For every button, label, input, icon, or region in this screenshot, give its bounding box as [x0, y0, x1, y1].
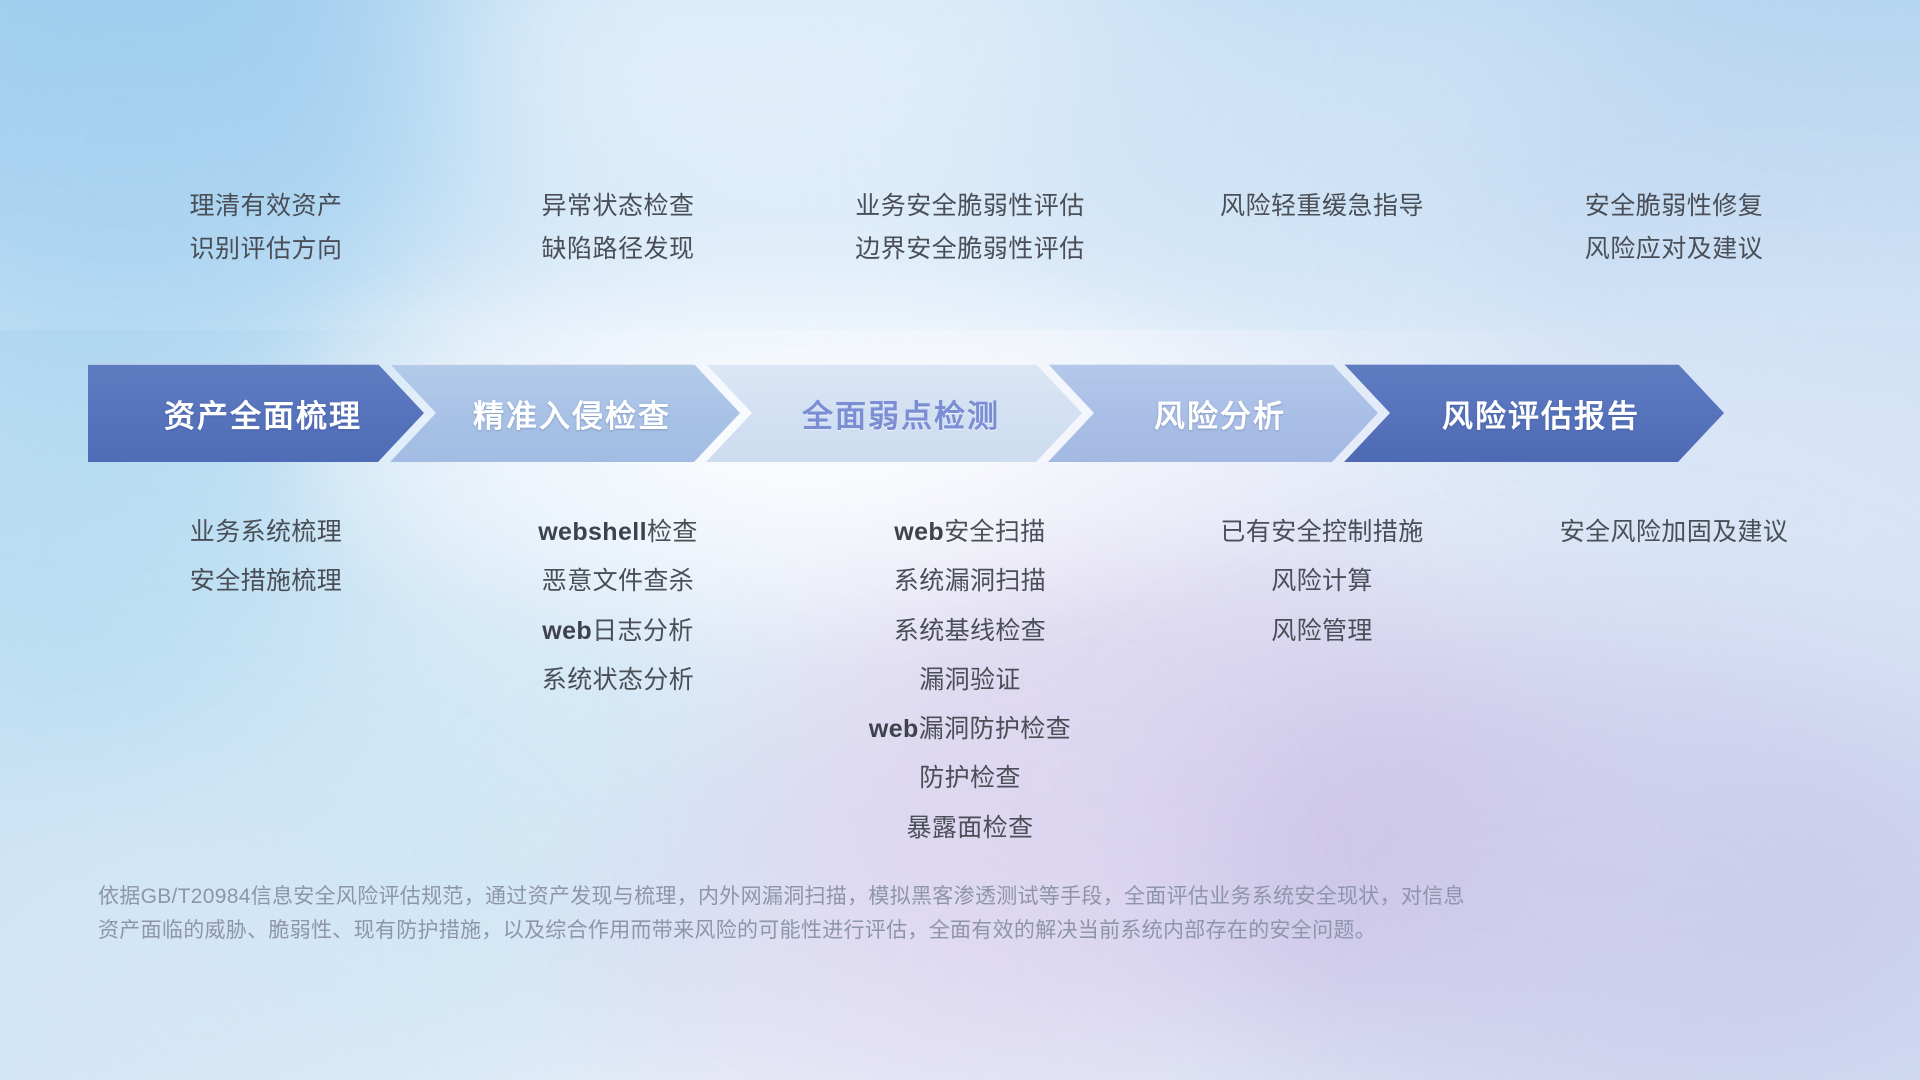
activity-item-keyword: web [542, 617, 592, 645]
bottom-activities-row: 业务系统梳理安全措施梳理 webshell检查恶意文件查杀web日志分析系统状态… [90, 508, 1850, 853]
top-outcome-line: 风险应对及建议 [1585, 228, 1764, 271]
process-stage-label: 风险评估报告 [1428, 391, 1640, 436]
process-stage-risk-analysis[interactable]: 风险分析 [1048, 364, 1378, 462]
top-outcome-line: 异常状态检查 [541, 185, 694, 228]
top-outcomes-assessment-report: 安全脆弱性修复 风险应对及建议 [1498, 185, 1850, 295]
activity-item: 业务系统梳理 [190, 508, 342, 557]
top-outcomes-intrusion-check: 异常状态检查 缺陷路径发现 [442, 185, 794, 295]
activity-item: 系统漏洞扫描 [894, 557, 1046, 606]
activity-item-keyword: webshell [538, 518, 647, 546]
activity-item: web安全扫描 [894, 508, 1045, 557]
bottom-activities-weakness-detection: web安全扫描系统漏洞扫描系统基线检查漏洞验证web漏洞防护检查防护检查暴露面检… [794, 508, 1146, 853]
bottom-activities-assessment-report: 安全风险加固及建议 [1498, 508, 1850, 557]
footer-line: 依据GB/T20984信息安全风险评估规范，通过资产发现与梳理，内外网漏洞扫描，… [98, 880, 1618, 914]
activity-item: webshell检查 [538, 508, 698, 557]
activity-item: 系统基线检查 [894, 607, 1046, 656]
top-outcome-line: 业务安全脆弱性评估 [855, 185, 1085, 228]
activity-item: 安全措施梳理 [190, 557, 342, 606]
process-arrow-band: 资产全面梳理 精准入侵检查 全面弱点检测 风险分析 风险评估报告 [88, 364, 1854, 462]
top-outcomes-weakness-detection: 业务安全脆弱性评估 边界安全脆弱性评估 [794, 185, 1146, 295]
activity-item: 风险计算 [1271, 557, 1373, 606]
top-outcomes-row: 理清有效资产 识别评估方向 异常状态检查 缺陷路径发现 业务安全脆弱性评估 边界… [90, 185, 1850, 295]
process-stage-assessment-report[interactable]: 风险评估报告 [1344, 364, 1724, 462]
top-outcome-line: 风险轻重缓急指导 [1220, 185, 1424, 228]
process-stage-intrusion-check[interactable]: 精准入侵检查 [390, 364, 740, 462]
process-stage-label: 资产全面梳理 [150, 391, 362, 436]
top-outcome-line: 理清有效资产 [189, 185, 342, 228]
process-stage-weakness-detection[interactable]: 全面弱点检测 [706, 364, 1082, 462]
process-stage-label: 全面弱点检测 [788, 391, 1000, 436]
top-outcomes-asset-inventory: 理清有效资产 识别评估方向 [90, 185, 442, 295]
top-outcomes-risk-analysis: 风险轻重缓急指导 [1146, 185, 1498, 295]
bottom-activities-risk-analysis: 已有安全控制措施风险计算风险管理 [1146, 508, 1498, 656]
bottom-activities-intrusion-check: webshell检查恶意文件查杀web日志分析系统状态分析 [442, 508, 794, 705]
top-outcome-line: 缺陷路径发现 [541, 228, 694, 271]
activity-item-keyword: web [869, 715, 919, 743]
footer-line: 资产面临的威胁、脆弱性、现有防护措施，以及综合作用而带来风险的可能性进行评估，全… [98, 914, 1618, 948]
activity-item: 已有安全控制措施 [1220, 508, 1423, 557]
process-stage-asset-inventory[interactable]: 资产全面梳理 [88, 364, 424, 462]
top-outcome-line: 识别评估方向 [189, 228, 342, 271]
activity-item: 防护检查 [919, 754, 1021, 803]
activity-item: 暴露面检查 [906, 804, 1033, 853]
footer-description: 依据GB/T20984信息安全风险评估规范，通过资产发现与梳理，内外网漏洞扫描，… [98, 880, 1618, 948]
process-stage-label: 风险分析 [1140, 391, 1286, 436]
activity-item: web日志分析 [542, 607, 693, 656]
top-outcome-line: 边界安全脆弱性评估 [855, 228, 1085, 271]
process-stage-label: 精准入侵检查 [459, 391, 671, 436]
top-outcome-line: 安全脆弱性修复 [1585, 185, 1764, 228]
activity-item: web漏洞防护检查 [869, 705, 1071, 754]
activity-item: 风险管理 [1271, 607, 1373, 656]
bottom-activities-asset-inventory: 业务系统梳理安全措施梳理 [90, 508, 442, 607]
activity-item-keyword: web [894, 518, 944, 546]
activity-item: 安全风险加固及建议 [1560, 508, 1789, 557]
activity-item: 恶意文件查杀 [542, 557, 694, 606]
activity-item: 系统状态分析 [542, 656, 694, 705]
activity-item: 漏洞验证 [919, 656, 1021, 705]
